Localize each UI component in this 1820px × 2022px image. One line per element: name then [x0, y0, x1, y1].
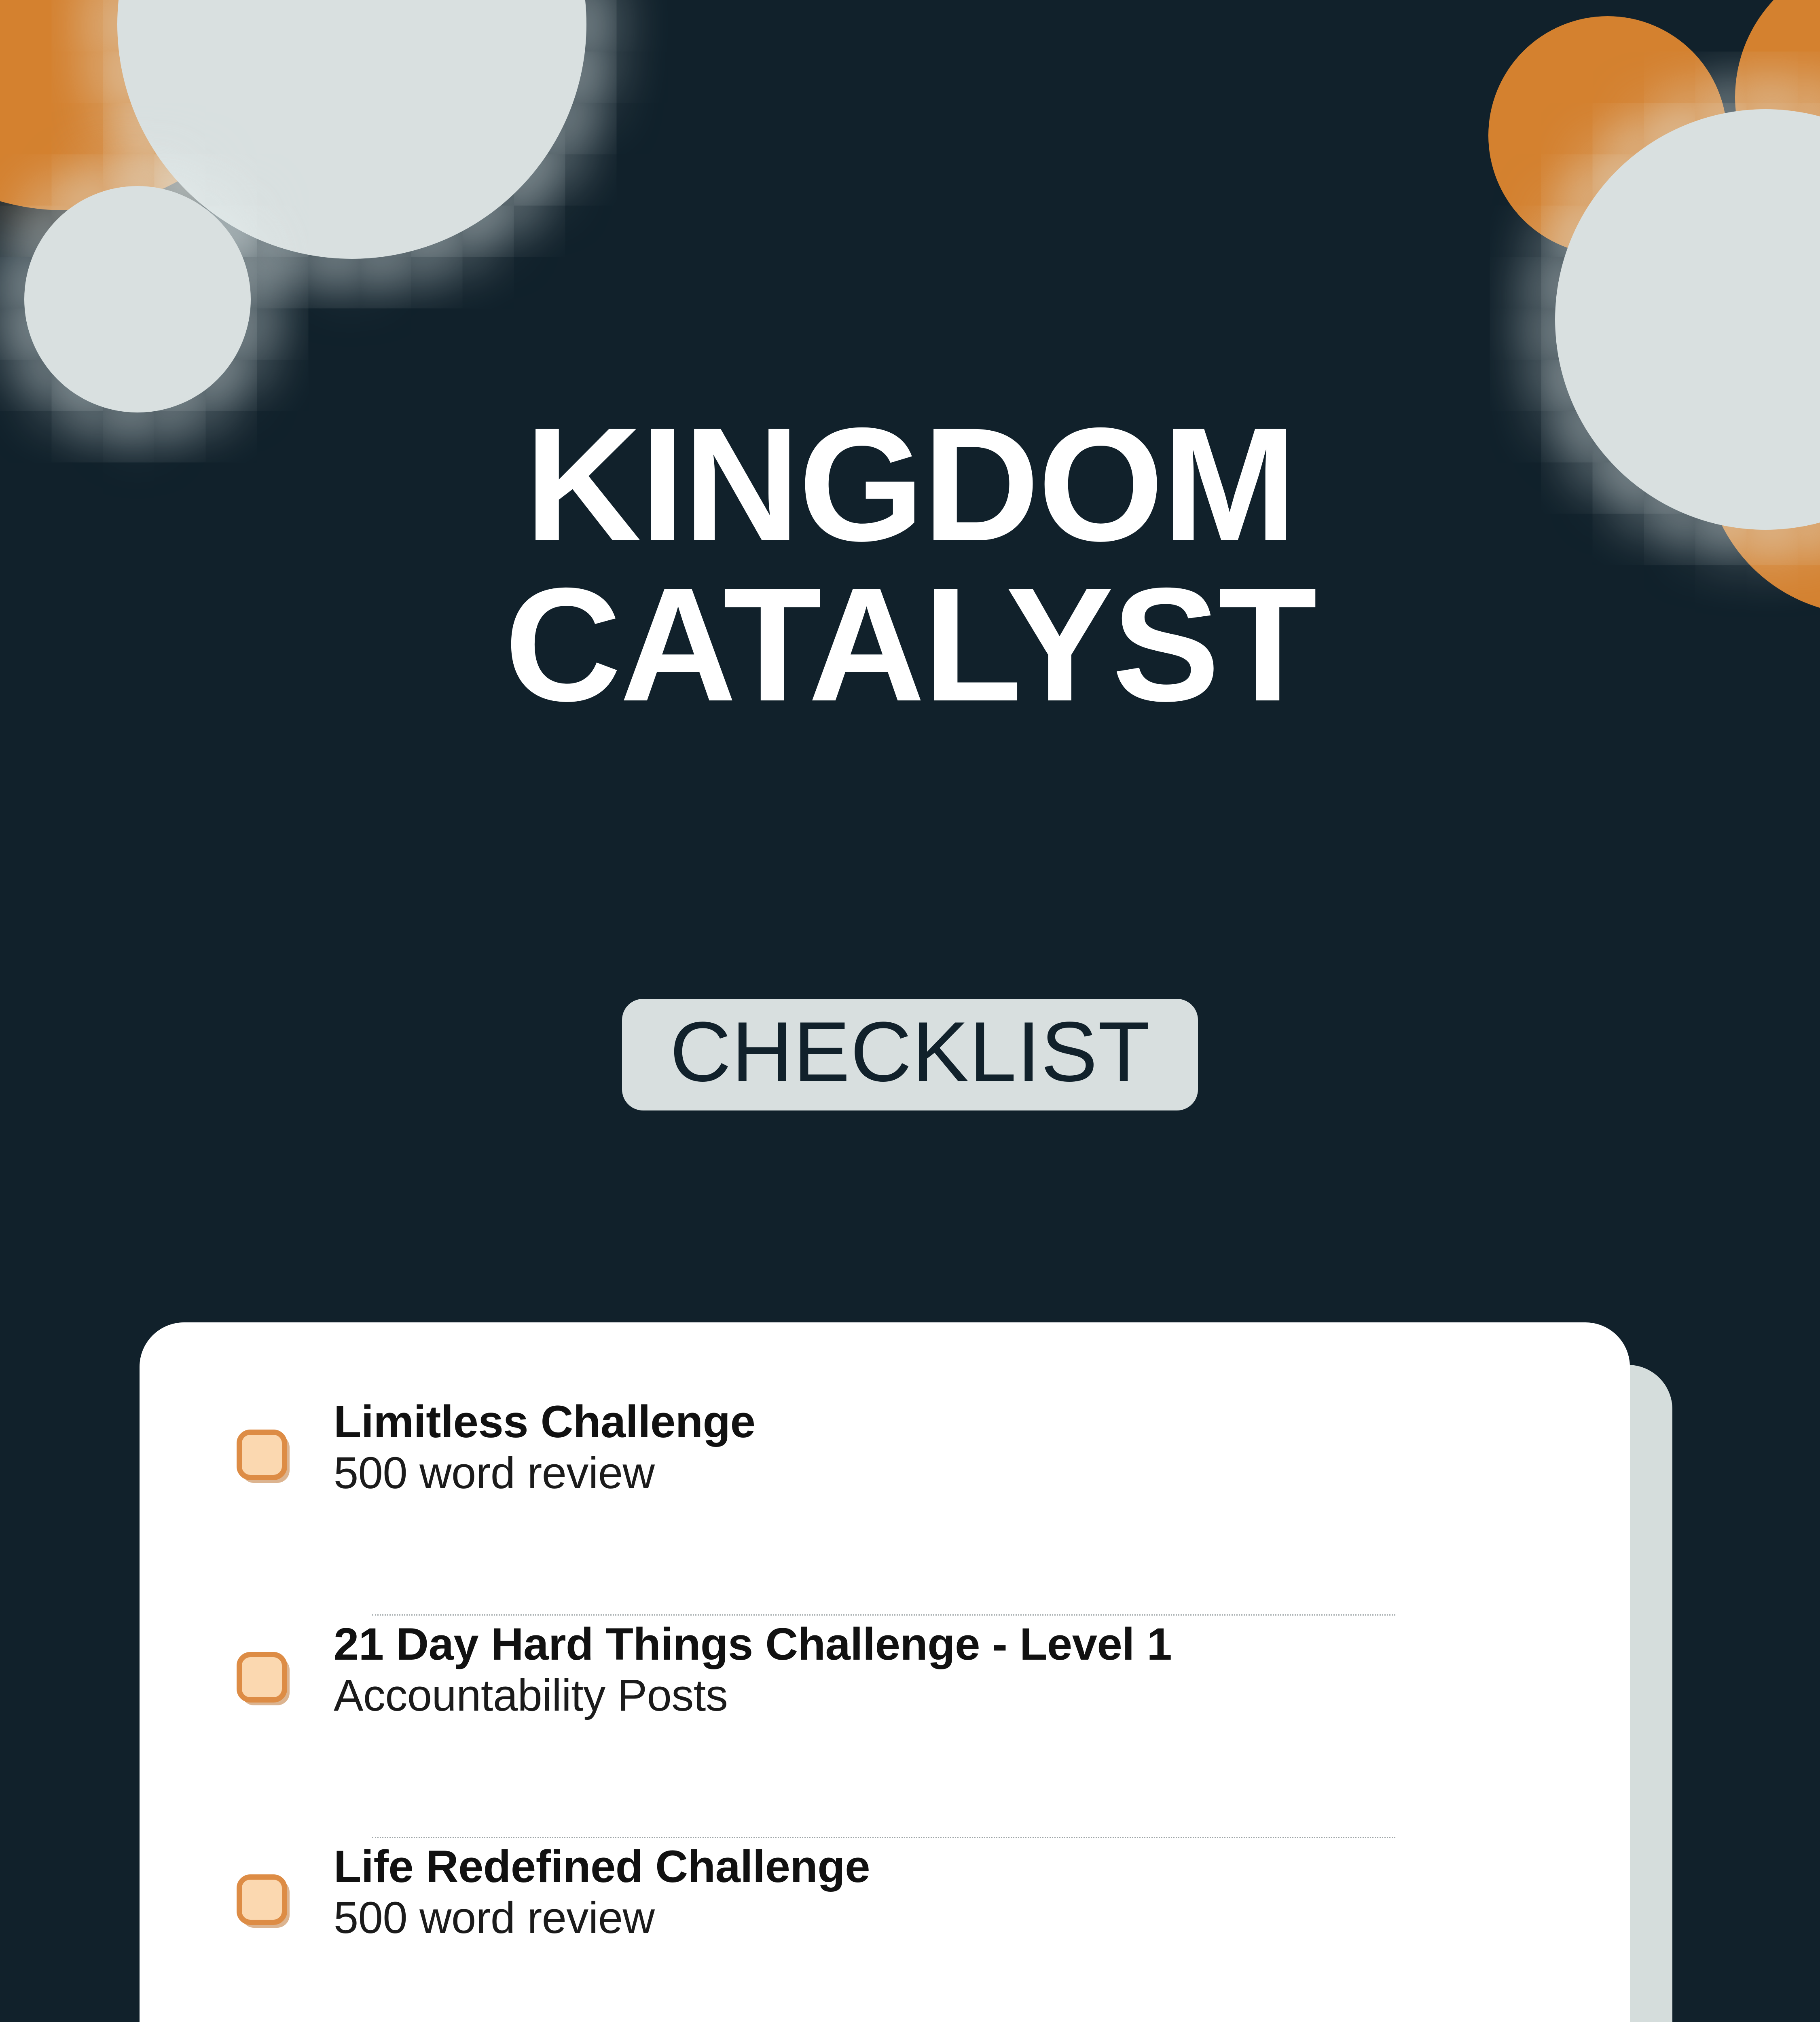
list-item[interactable]: 21 Day Hard Things Challenge - Level 1 A… — [140, 1616, 1630, 1838]
poster-canvas: KINGDOM CATALYST CHECKLIST Limitless Cha… — [0, 0, 1820, 2022]
checkbox-icon[interactable] — [237, 1430, 287, 1480]
status-badge: CHECKLIST — [622, 999, 1198, 1110]
badge-container: CHECKLIST — [0, 999, 1820, 1110]
list-item[interactable]: Limitless Challenge 500 word review — [140, 1393, 1630, 1616]
checklist-card: Limitless Challenge 500 word review 21 D… — [140, 1322, 1630, 2022]
list-item[interactable]: Life Redefined Challenge 500 word review — [140, 1838, 1630, 2022]
list-item-subtitle: 500 word review — [334, 1447, 1630, 1500]
checkbox-icon[interactable] — [237, 1652, 287, 1703]
checklist-items: Limitless Challenge 500 word review 21 D… — [140, 1393, 1630, 2022]
list-item-text: Limitless Challenge 500 word review — [334, 1393, 1630, 1500]
list-item-subtitle: 500 word review — [334, 1892, 1630, 1944]
title-line-1: KINGDOM — [0, 404, 1820, 565]
list-item-title: Life Redefined Challenge — [334, 1841, 1630, 1892]
checkbox-icon[interactable] — [237, 1874, 287, 1925]
list-item-text: Life Redefined Challenge 500 word review — [334, 1838, 1630, 1944]
page-title: KINGDOM CATALYST — [0, 404, 1820, 725]
title-line-2: CATALYST — [0, 565, 1820, 725]
list-item-title: 21 Day Hard Things Challenge - Level 1 — [334, 1619, 1630, 1669]
list-item-title: Limitless Challenge — [334, 1396, 1630, 1447]
list-item-subtitle: Accountability Posts — [334, 1669, 1630, 1722]
circle-gray-small-icon — [24, 186, 251, 412]
list-item-text: 21 Day Hard Things Challenge - Level 1 A… — [334, 1616, 1630, 1722]
